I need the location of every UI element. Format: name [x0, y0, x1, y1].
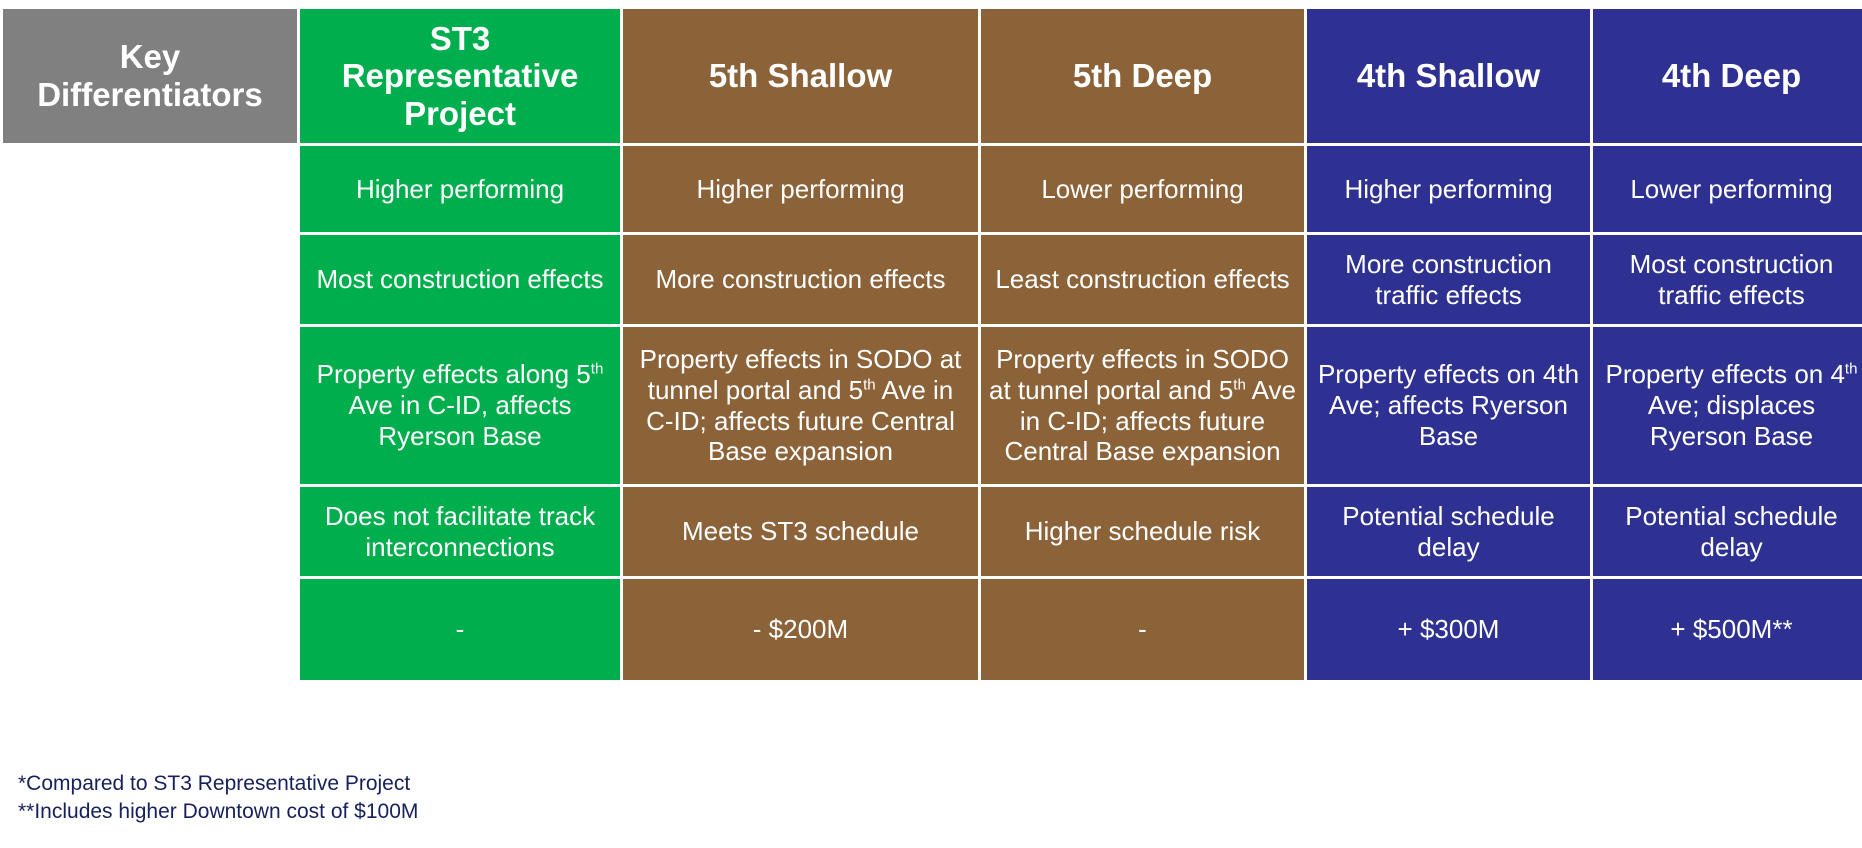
key-differentiators-comparison-table: Key Differentiators ST3 Representative P…	[0, 6, 1862, 683]
cell-construction-effects-5th-shallow: More construction effects	[623, 235, 978, 324]
cell-estimate-st3-rep: -	[300, 579, 620, 680]
cell-ease-5th-shallow: Higher performing	[623, 146, 978, 232]
column-header-5th-shallow: 5th Shallow	[623, 9, 978, 143]
row-label-property-effects: Property effects	[3, 327, 297, 484]
footnotes: *Compared to ST3 Representative Project …	[18, 770, 418, 826]
column-header-st3-representative-project: ST3 Representative Project	[300, 9, 620, 143]
cell-estimate-5th-shallow: - $200M	[623, 579, 978, 680]
table-header-row: Key Differentiators ST3 Representative P…	[3, 9, 1862, 143]
cell-property-effects-4th-deep: Property effects on 4th Ave; displaces R…	[1593, 327, 1862, 484]
cell-estimate-4th-deep: + $500M**	[1593, 579, 1862, 680]
cell-schedule-5th-deep: Higher schedule risk	[981, 487, 1304, 576]
table-row-construction-schedule: Construction schedule Does not facilitat…	[3, 487, 1862, 576]
column-header-4th-shallow: 4th Shallow	[1307, 9, 1590, 143]
cell-property-effects-5th-deep: Property effects in SODO at tunnel porta…	[981, 327, 1304, 484]
cell-estimate-5th-deep: -	[981, 579, 1304, 680]
cell-property-effects-st3-rep: Property effects along 5th Ave in C-ID, …	[300, 327, 620, 484]
column-header-5th-deep: 5th Deep	[981, 9, 1304, 143]
cell-ease-5th-deep: Lower performing	[981, 146, 1304, 232]
footnote-double-asterisk: **Includes higher Downtown cost of $100M	[18, 798, 418, 826]
cell-ease-4th-shallow: Higher performing	[1307, 146, 1590, 232]
column-header-key-differentiators: Key Differentiators	[3, 9, 297, 143]
column-header-4th-deep: 4th Deep	[1593, 9, 1862, 143]
cell-ease-4th-deep: Lower performing	[1593, 146, 1862, 232]
cell-property-effects-4th-shallow: Property effects on 4th Ave; affects Rye…	[1307, 327, 1590, 484]
table-row-ease-of-station-access: Ease of station access/transfers Higher …	[3, 146, 1862, 232]
cell-construction-effects-4th-shallow: More construction traffic effects	[1307, 235, 1590, 324]
cell-schedule-st3-rep: Does not facilitate track interconnectio…	[300, 487, 620, 576]
row-label-construction-effects-cid: Construction effects in C-ID	[3, 235, 297, 324]
cell-construction-effects-4th-deep: Most construction traffic effects	[1593, 235, 1862, 324]
cell-schedule-5th-shallow: Meets ST3 schedule	[623, 487, 978, 576]
row-label-construction-schedule: Construction schedule	[3, 487, 297, 576]
cell-schedule-4th-shallow: Potential schedule delay	[1307, 487, 1590, 576]
cell-schedule-4th-deep: Potential schedule delay	[1593, 487, 1862, 576]
cell-construction-effects-5th-deep: Least construction effects	[981, 235, 1304, 324]
cell-construction-effects-st3-rep: Most construction effects	[300, 235, 620, 324]
slide-canvas: Key Differentiators ST3 Representative P…	[0, 0, 1862, 848]
cell-estimate-4th-shallow: + $300M	[1307, 579, 1590, 680]
table-row-property-effects: Property effects Property effects along …	[3, 327, 1862, 484]
table-row-construction-effects-cid: Construction effects in C-ID Most constr…	[3, 235, 1862, 324]
footnote-single-asterisk: *Compared to ST3 Representative Project	[18, 770, 418, 798]
row-label-comparative-estimate: Comparative estimate (2018$)*	[3, 579, 297, 680]
row-label-ease-of-station-access: Ease of station access/transfers	[3, 146, 297, 232]
cell-ease-st3-rep: Higher performing	[300, 146, 620, 232]
cell-property-effects-5th-shallow: Property effects in SODO at tunnel porta…	[623, 327, 978, 484]
table-row-comparative-estimate: Comparative estimate (2018$)* - - $200M …	[3, 579, 1862, 680]
